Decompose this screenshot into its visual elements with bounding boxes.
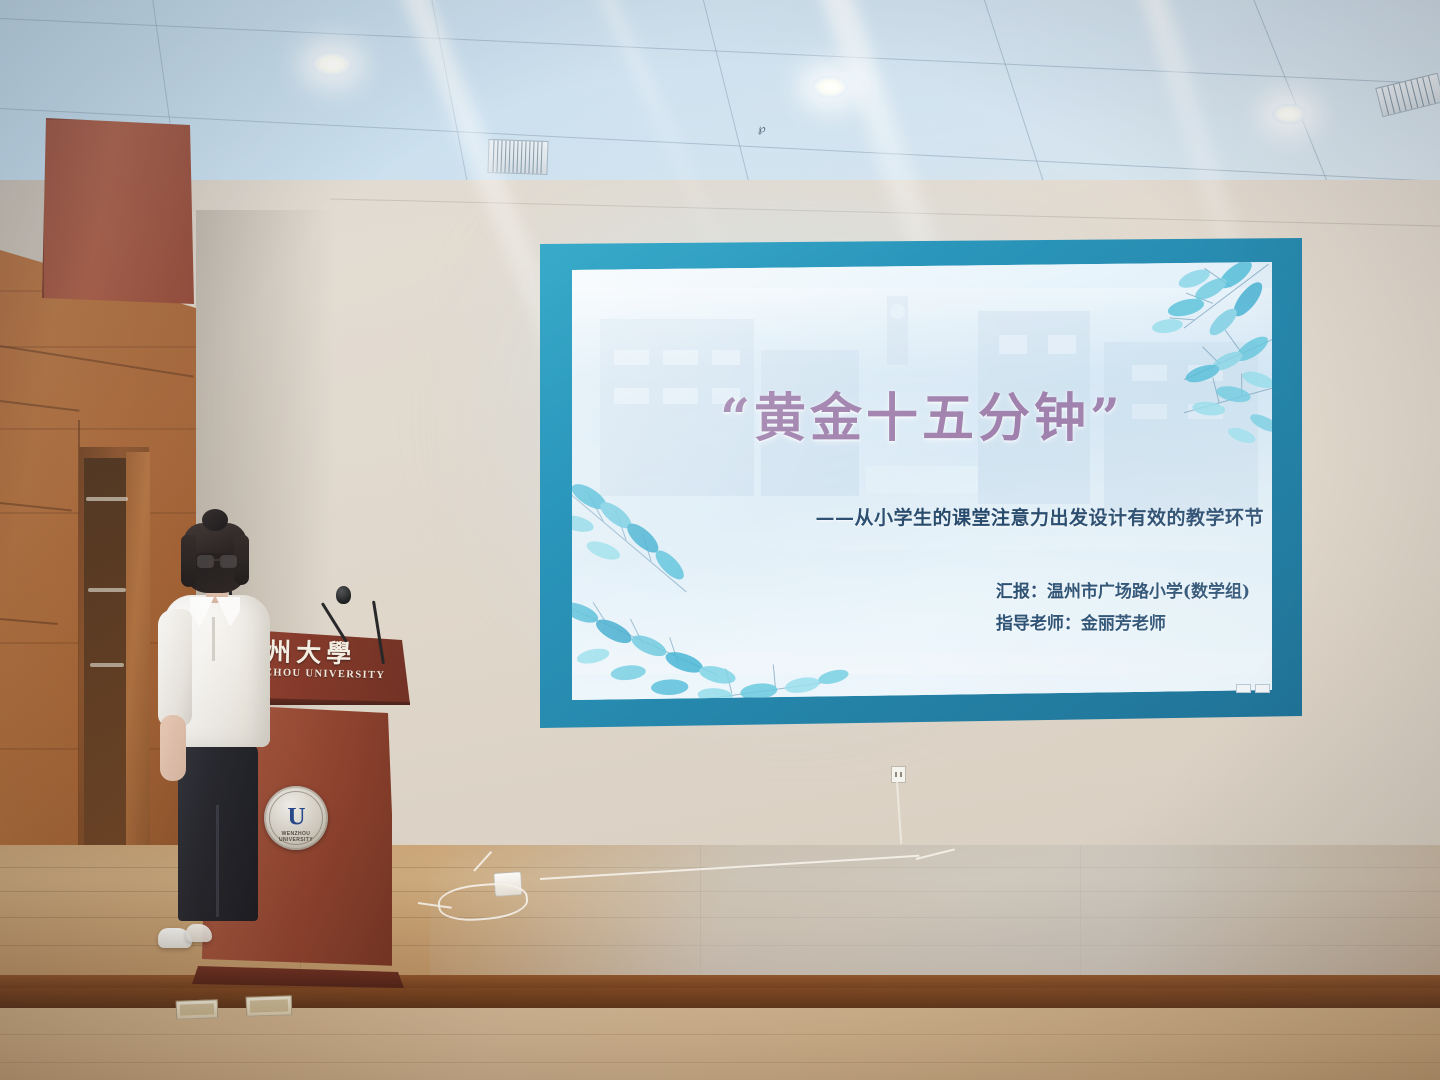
- stage-light-reflection: [430, 845, 1440, 985]
- presenter-hair-bun: [202, 509, 228, 531]
- slide-credit-report: 汇报：温州市广场路小学(数学组): [996, 577, 1250, 608]
- presenter-leg-seam: [216, 805, 219, 917]
- floor-plank-line: [0, 1034, 1440, 1035]
- door-opening: [84, 458, 128, 854]
- floor-reflection: [0, 1008, 1440, 1080]
- air-vent-grille: [487, 139, 548, 175]
- wood-panel-seam: [0, 618, 58, 625]
- slide-credits: 汇报：温州市广场路小学(数学组) 指导老师：金丽芳老师: [996, 577, 1250, 640]
- door-push-bar[interactable]: [88, 588, 126, 592]
- wood-panel-seam: [0, 502, 72, 512]
- microphone-head-right[interactable]: [336, 586, 351, 604]
- door-push-bar[interactable]: [90, 663, 124, 667]
- slide-subtitle: ——从小学生的课堂注意力出发设计有效的教学环节: [572, 503, 1264, 530]
- presenter-shoe-right: [186, 924, 212, 942]
- presenter-glasses: [197, 555, 235, 566]
- glasses-lens-left: [197, 555, 214, 568]
- slide-title: “黄金十五分钟”: [572, 376, 1272, 451]
- floor-socket-cover[interactable]: [176, 999, 219, 1019]
- presenter: [150, 505, 280, 955]
- glasses-bridge: [212, 559, 220, 561]
- screen-label-tab: [1236, 684, 1251, 693]
- wood-grain: [0, 428, 196, 430]
- wood-panel-seam: [0, 345, 194, 378]
- lecture-hall-photo: ℘: [0, 0, 1440, 1080]
- ceiling-marking: ℘: [758, 122, 766, 135]
- ceiling-downlight: [1272, 104, 1306, 124]
- door-push-bar[interactable]: [86, 497, 128, 501]
- projector-screen-surface[interactable]: “黄金十五分钟” ——从小学生的课堂注意力出发设计有效的教学环节 汇报：温州市广…: [572, 262, 1272, 700]
- floor-plank-line: [0, 1062, 1440, 1063]
- emblem-monogram: U: [287, 804, 304, 829]
- screen-label-tab: [1255, 684, 1270, 693]
- floor-socket-cover[interactable]: [246, 995, 293, 1017]
- wood-panel-seam: [0, 400, 80, 412]
- presenter-shirt-placket: [212, 617, 215, 661]
- presenter-hair-side-left: [181, 535, 196, 587]
- ceiling-downlight: [312, 52, 352, 76]
- hall-floor: [0, 1008, 1440, 1080]
- open-door-leaf[interactable]: [126, 452, 150, 856]
- slide-credit-advisor: 指导老师：金丽芳老师: [996, 609, 1250, 640]
- screen-frame-labels: [1236, 684, 1270, 693]
- wood-grain: [0, 346, 196, 348]
- glasses-lens-right: [220, 555, 237, 568]
- podium-front-panel: [42, 118, 196, 312]
- wall-outlet[interactable]: [891, 766, 906, 783]
- presenter-arm-left: [158, 609, 192, 727]
- presenter-forearm-left: [160, 715, 186, 781]
- ceiling-downlight: [812, 76, 848, 98]
